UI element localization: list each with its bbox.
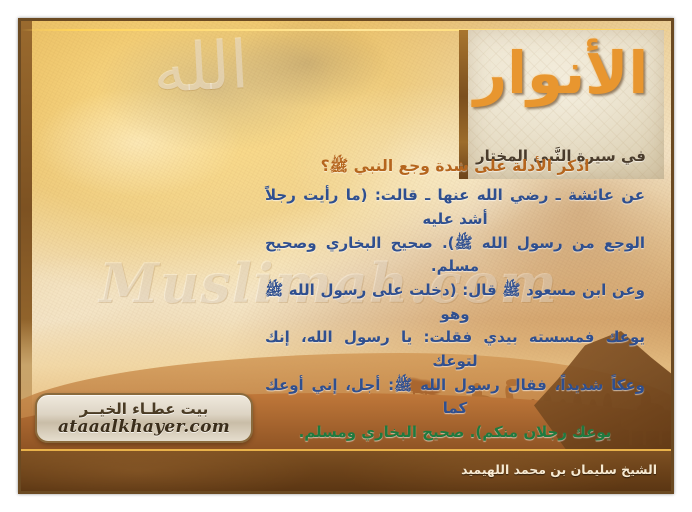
answer-line: يوعك فمسسته بيدي فقلت: يا رسول الله، إنك… [265,326,645,373]
content-block: اذكر الأدلة على شدة وجع النبي ﷺ؟ عن عائش… [265,155,645,445]
poster-page: الله [0,0,692,512]
artwork-canvas: الله [21,21,671,491]
page-title: الأنوار [468,44,654,102]
badge-url: ataaalkhayer.com [37,417,251,437]
site-logo-badge[interactable]: بيت عطـاء الخيــر ataaalkhayer.com [35,393,253,443]
footer-band: الشيخ سليمان بن محمد اللهيميد [21,449,671,491]
answer-line: عن عائشة ـ رضي الله عنها ـ قالت: (ما رأي… [265,184,645,231]
badge-arabic-name: بيت عطـاء الخيــر [37,400,251,418]
answer-line: وعكاً شديداً، فقال رسول الله ﷺ: أجل، إني… [265,374,645,421]
answer-line: الوجع من رسول الله ﷺ). صحيح البخاري وصحي… [265,232,645,279]
answer-line: وعن ابن مسعود ﷺ قال: (دخلت على رسول الله… [265,279,645,326]
question-line: اذكر الأدلة على شدة وجع النبي ﷺ؟ [265,155,645,178]
answer-line: يوعك رجلان منكم). صحيح البخاري ومسلم. [265,421,645,445]
author-name: الشيخ سليمان بن محمد اللهيميد [461,462,657,477]
poster-frame: الله [18,18,674,494]
